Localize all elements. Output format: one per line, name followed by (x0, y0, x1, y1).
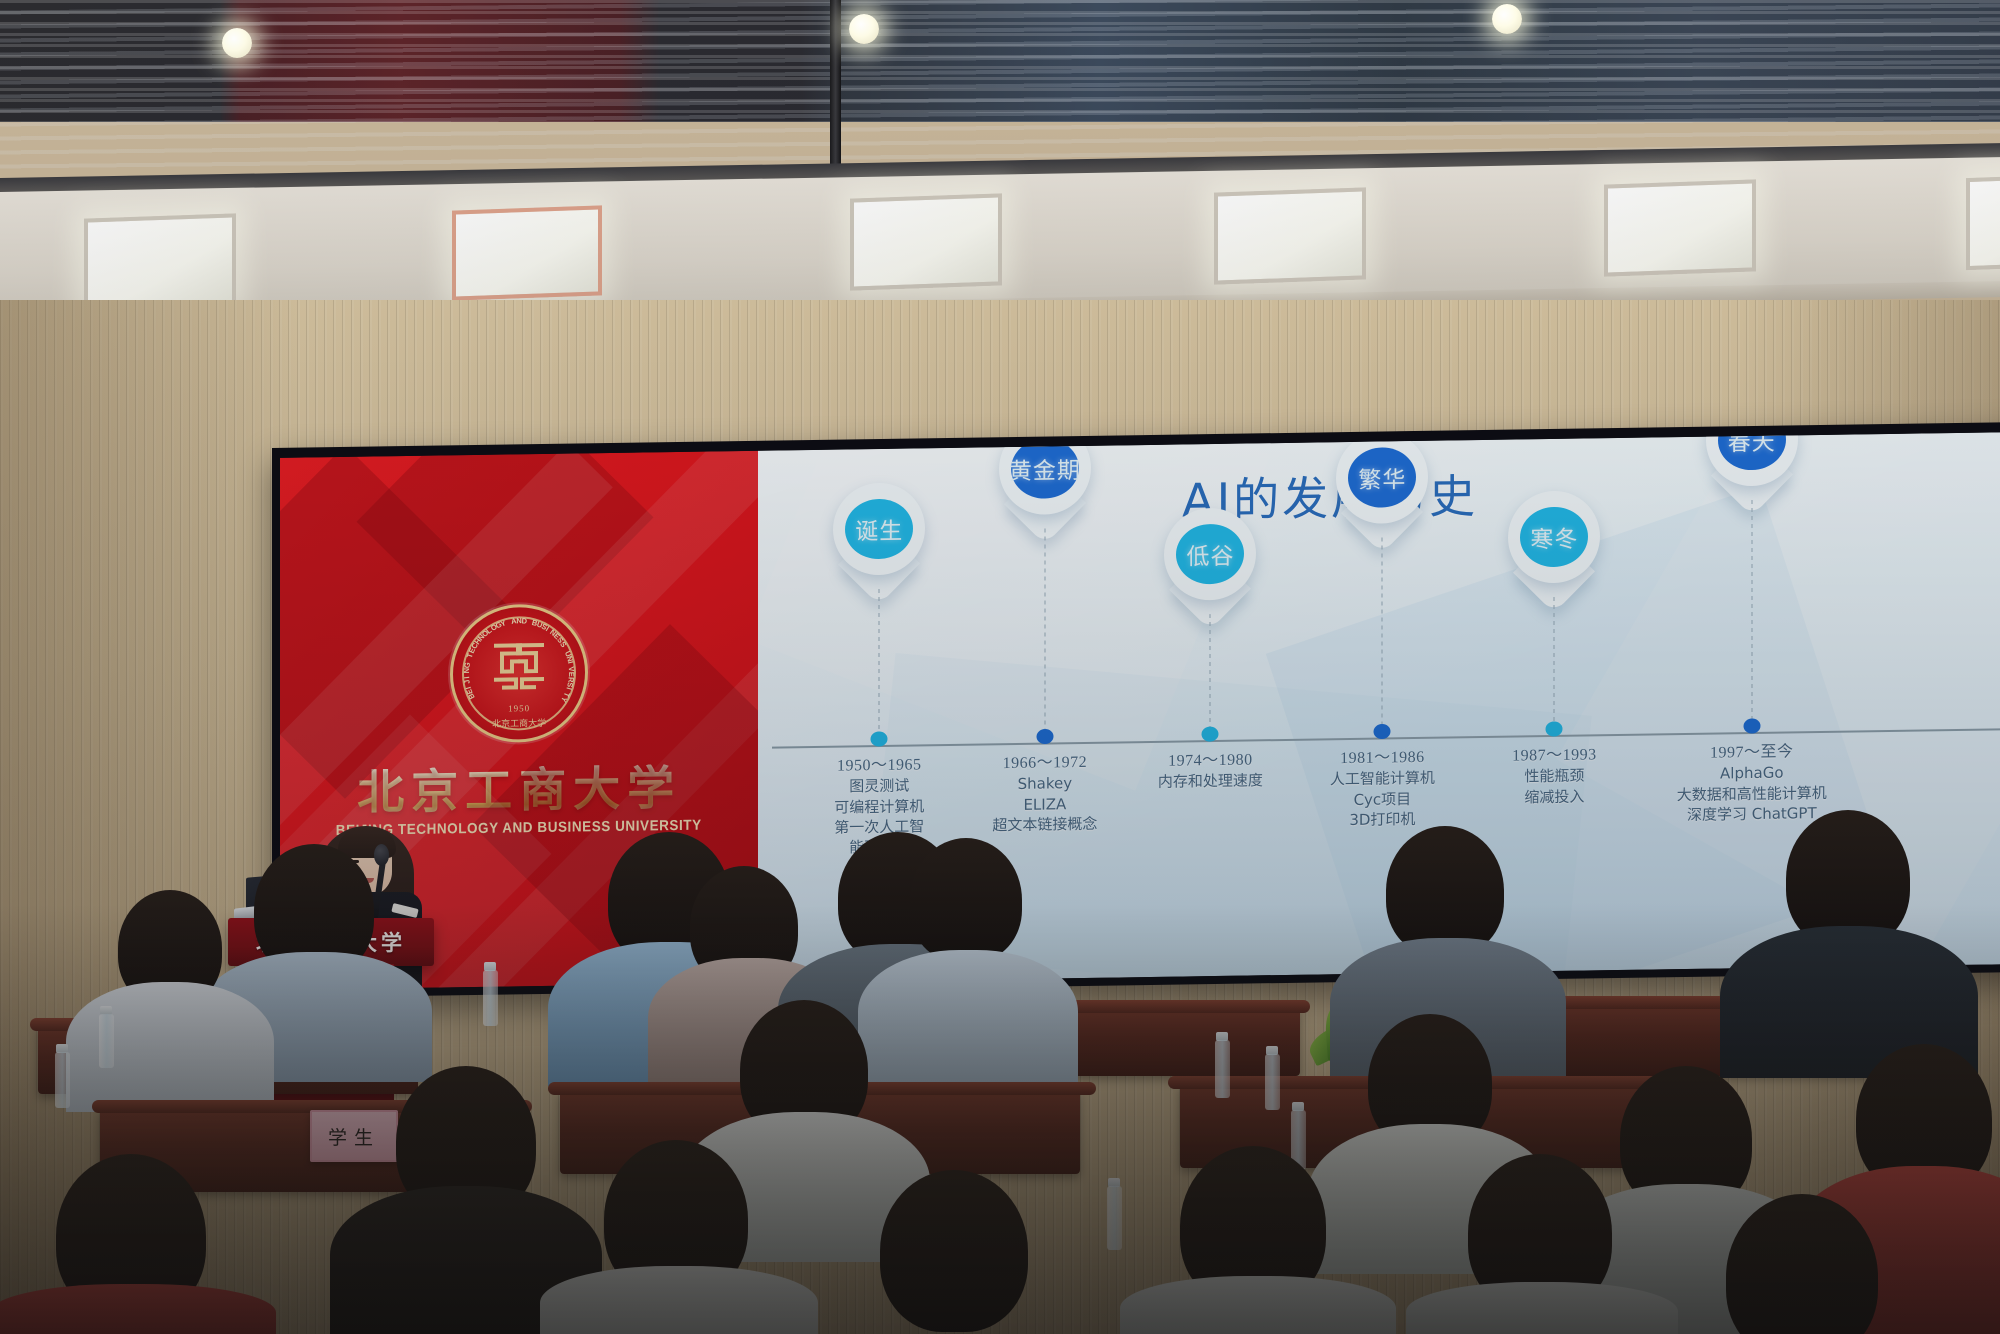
room-vignette-bottom (0, 904, 2000, 1334)
timeline-connector-line (1554, 597, 1555, 729)
ceiling-light-panel (1214, 187, 1366, 284)
timeline-pin-marker[interactable]: 春天 (1706, 432, 1798, 503)
timeline-pin-marker[interactable]: 寒冬 (1508, 490, 1600, 599)
pendant-bulb (222, 28, 252, 58)
timeline-label: 1997～至今AlphaGo 大数据和高性能计算机 深度学习 ChatGPT (1647, 740, 1857, 825)
ceiling-light-panel (1604, 179, 1756, 276)
timeline-pin-marker[interactable]: 低谷 (1164, 507, 1256, 616)
timeline-pin-marker[interactable]: 诞生 (833, 482, 925, 591)
auditorium-scene: 1950 北京工商大学 BEIJING TECHNOLOGY AND BUSIN… (0, 0, 2000, 1334)
timeline-connector-line (1044, 529, 1045, 737)
pendant-bulb (849, 14, 879, 44)
crest-arc-char: G (463, 661, 473, 668)
university-crest-logo: 1950 北京工商大学 BEIJING TECHNOLOGY AND BUSIN… (450, 603, 588, 743)
ceiling-light-panel (1966, 174, 2000, 270)
timeline-connector-line (1382, 538, 1383, 732)
timeline-year-range: 1987～1993 (1449, 743, 1659, 768)
crest-arc-char: D (522, 616, 528, 625)
timeline-connector-line (879, 589, 880, 739)
crest-arc-text: BEIJING TECHNOLOGY AND BUSINESS UNIVERSI… (455, 608, 583, 738)
timeline-label: 1987～1993性能瓶颈 缩减投入 (1449, 743, 1659, 808)
pendant-bulb (1492, 4, 1522, 34)
ceiling-light-panel (452, 205, 602, 300)
timeline-year-range: 1997～至今 (1647, 740, 1857, 765)
ceiling-light-panel (850, 193, 1002, 290)
timeline-detail-text: 性能瓶颈 缩减投入 (1449, 765, 1659, 808)
timeline-connector-line (1751, 500, 1752, 726)
timeline-connector-line (1210, 614, 1211, 734)
timeline-pin-marker[interactable]: 繁华 (1336, 432, 1428, 540)
crest-arc-char: J (462, 678, 472, 684)
ceiling-light-panel (84, 213, 236, 310)
timeline-pin-marker[interactable]: 黄金期 (999, 432, 1091, 531)
crest-arc-char: I (566, 660, 575, 664)
